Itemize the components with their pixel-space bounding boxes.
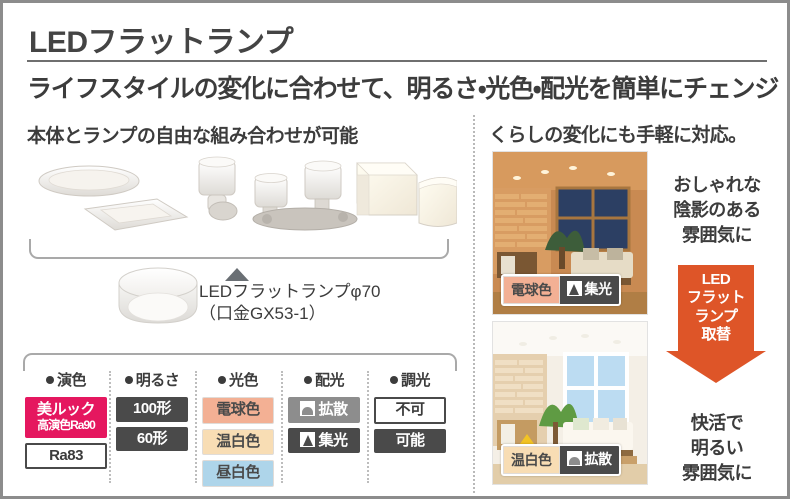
arrow-badge-text: LED フラット ランプ 取替	[666, 271, 766, 344]
spec-chip-bi-look[interactable]: 美ルック 高演色Ra90	[25, 397, 107, 438]
spec-column-header: 演色	[46, 369, 86, 390]
arrow-tip	[666, 351, 766, 383]
spec-chip-60w[interactable]: 60形	[116, 427, 188, 452]
flat-lamp-svg	[115, 265, 201, 331]
spec-chip-ra83[interactable]: Ra83	[25, 443, 107, 470]
spec-chip-bulb-color[interactable]: 電球色	[202, 397, 274, 424]
spec-column-header: 光色	[218, 369, 258, 390]
diffuse-icon	[300, 401, 315, 416]
spec-table: 演色 美ルック 高演色Ra90 Ra83 明るさ 100形 60形 光色 電球色…	[23, 369, 453, 489]
downlight-square-icon	[85, 199, 187, 230]
lamp-caption-line1: LEDフラットランプφ70	[199, 281, 381, 303]
right-section-heading: くらしの変化にも手軽に対応。	[489, 120, 747, 147]
bullet-dot-icon	[218, 376, 226, 384]
photo-badge-top: 電球色 集光	[501, 274, 621, 306]
spec-chip-warm-white[interactable]: 温白色	[202, 429, 274, 456]
lamp-caption-line2: （口金GX53-1）	[199, 303, 381, 325]
wall-light-icon	[419, 177, 457, 226]
fixture-illustrations	[27, 153, 457, 238]
evening-living-room-photo: 電球色 集光	[492, 151, 648, 315]
spot-icon	[300, 432, 315, 447]
diffuse-icon	[567, 451, 582, 466]
caption-upper: おしゃれな 陰影のある 雰囲気に	[655, 173, 779, 249]
daytime-living-room-photo: 温白色 拡散	[492, 321, 648, 485]
spec-chip-daylight-white[interactable]: 昼白色	[202, 460, 274, 487]
spec-column-color-rendering: 演色 美ルック 高演色Ra90 Ra83	[23, 369, 109, 489]
fixture-lineup-svg	[27, 153, 457, 238]
spec-column-header: 調光	[390, 369, 430, 390]
flat-lamp-illustration	[115, 265, 201, 331]
up-arrow-icon	[225, 268, 249, 281]
page-title: LEDフラットランプ	[29, 17, 293, 61]
spec-column-header: 配光	[304, 369, 344, 390]
spec-column-light-distribution: 配光 拡散 集光	[281, 369, 367, 489]
column-divider	[473, 115, 475, 493]
badge-beam-diffuse: 拡散	[560, 446, 619, 474]
spot-icon	[567, 281, 582, 296]
caption-lower: 快活で 明るい 雰囲気に	[655, 411, 779, 487]
spec-chip-diffuse[interactable]: 拡散	[288, 397, 360, 423]
spec-chip-spot[interactable]: 集光	[288, 428, 360, 454]
badge-beam-spot: 集光	[560, 276, 619, 304]
bullet-dot-icon	[125, 376, 133, 384]
ceiling-square-light-icon	[357, 163, 417, 215]
spec-chip-not-dimmable[interactable]: 不可	[374, 397, 446, 424]
title-divider	[27, 60, 767, 62]
lamp-caption: LEDフラットランプφ70 （口金GX53-1）	[199, 281, 381, 326]
spec-column-light-color: 光色 電球色 温白色 昼白色	[195, 369, 281, 489]
page-subtitle: ライフスタイルの変化に合わせて、明るさ・光色・配光を簡単にチェンジ	[27, 69, 778, 105]
spec-chip-dimmable[interactable]: 可能	[374, 429, 446, 454]
badge-light-color: 温白色	[503, 446, 560, 474]
downlight-round-icon	[39, 166, 139, 196]
bullet-dot-icon	[304, 376, 312, 384]
spec-chip-100w[interactable]: 100形	[116, 397, 188, 422]
bullet-dot-icon	[390, 376, 398, 384]
spec-column-brightness: 明るさ 100形 60形	[109, 369, 195, 489]
bracket-light-single-icon	[199, 157, 237, 220]
bullet-dot-icon	[46, 376, 54, 384]
spec-column-dimming: 調光 不可 可能	[367, 369, 453, 489]
spec-column-header: 明るさ	[125, 369, 180, 390]
infographic-page: LEDフラットランプ ライフスタイルの変化に合わせて、明るさ・光色・配光を簡単に…	[0, 0, 790, 499]
spotlight-double-icon	[253, 161, 357, 230]
photo-badge-bottom: 温白色 拡散	[501, 444, 621, 476]
left-section-heading: 本体とランプの自由な組み合わせが可能	[27, 121, 358, 148]
fixtures-bracket	[29, 239, 449, 259]
replace-lamp-arrow-badge: LED フラット ランプ 取替	[666, 265, 766, 383]
badge-light-color: 電球色	[503, 276, 560, 304]
